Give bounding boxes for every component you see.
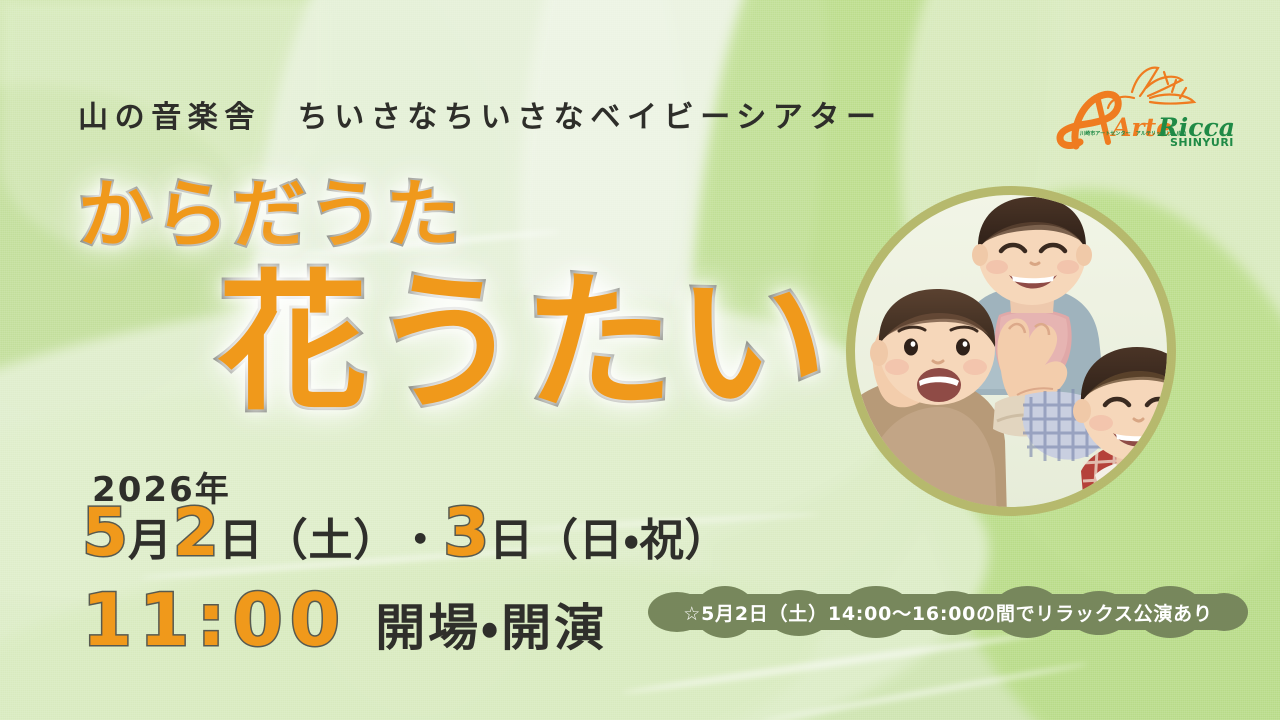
title-primary-text: 花うたい (218, 257, 830, 431)
event-subtitle: 山の音楽舎 ちいさなちいさなベイビーシアター (78, 92, 883, 136)
date-day2-label: 日（日・祝） (489, 519, 729, 563)
event-time-label: 開場・開演 (375, 603, 607, 653)
photo-ring-border (846, 186, 1176, 516)
title-secondary: からだうた (78, 178, 463, 252)
baby-photo (846, 186, 1176, 516)
date-separator: ・ (398, 519, 443, 563)
title-primary: 花うたい (218, 268, 830, 419)
event-date-line: 5 月 2 日（土） ・ 3 日（日・祝） (82, 500, 729, 566)
date-month-number: 5 (82, 500, 128, 566)
poster-canvas: 山の音楽舎 ちいさなちいさなベイビーシアター Arte Ricca SHINYU… (0, 0, 1280, 720)
artericca-logo[interactable]: Arte Ricca SHINYURI 川崎市アートセンター アルテリッコしんゆ… (1046, 58, 1236, 153)
event-time-line: 11:00 開場・開演 (82, 584, 607, 656)
date-day1-number: 2 (173, 500, 219, 566)
date-day1-label: 日（土） (219, 519, 399, 563)
relax-performance-text: ☆5月2日（土）14:00〜16:00の間でリラックス公演あり (648, 586, 1248, 638)
event-time-value: 11:00 (82, 584, 347, 656)
date-month-label: 月 (128, 519, 173, 563)
date-day2-number: 3 (443, 500, 489, 566)
logo-subtitle: 川崎市アートセンター アルテリッコしんゆり (1080, 130, 1187, 137)
relax-performance-badge: ☆5月2日（土）14:00〜16:00の間でリラックス公演あり (648, 586, 1248, 638)
logo-location: SHINYURI (1170, 136, 1234, 149)
logo-mark: Arte Ricca SHINYURI (1046, 58, 1236, 153)
title-secondary-text: からだうた (78, 172, 463, 258)
